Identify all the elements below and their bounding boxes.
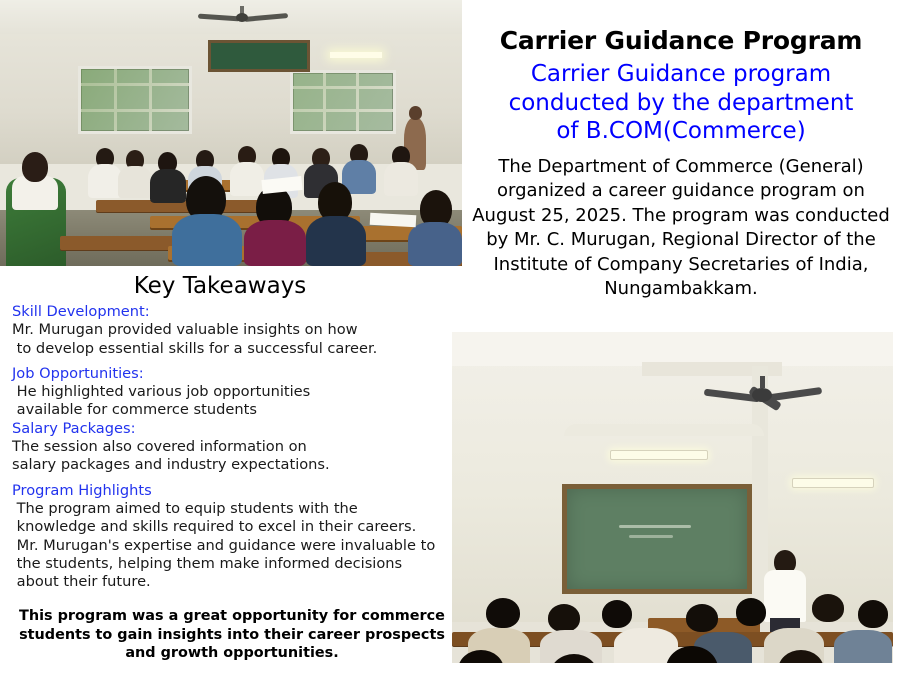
student-body [150,169,186,203]
closing-line-1: This program was a great opportunity for… [6,607,458,626]
takeaway-group-salary-packages: Salary Packages: The session also covere… [12,420,464,475]
takeaway-line: Mr. Murugan provided valuable insights o… [12,321,464,339]
papers [370,213,417,227]
page-title: Carrier Guidance Program [468,26,894,56]
window-left [78,66,192,134]
takeaway-line: about their future. [12,573,464,591]
chalkboard [208,40,310,72]
ceiling-fan-icon [198,6,288,28]
tube-light [610,450,708,460]
student-head [548,604,580,632]
spacer [12,358,464,365]
student-body [230,162,264,196]
intro-line-4: by Mr. C. Murugan, Regional Director of … [456,228,900,253]
student-body [118,166,152,198]
takeaway-group-program-highlights: Program Highlights The program aimed to … [12,482,464,592]
closing-line-2: students to gain insights into their car… [6,626,458,645]
classroom-photo-bottom [452,332,893,663]
standing-person-head [22,152,48,182]
student-head [736,598,766,626]
student-body-foreground [172,214,242,266]
student-head [602,600,632,628]
takeaway-heading: Salary Packages: [12,420,464,438]
closing-line-3: and growth opportunities. [6,644,458,663]
intro-line-2: organized a career guidance program on [456,179,900,204]
right-text-column: Carrier Guidance Program Carrier Guidanc… [462,0,900,302]
takeaway-line: the students, helping them make informed… [12,555,464,573]
takeaway-line: to develop essential skills for a succes… [12,340,464,358]
intro-line-3: August 25, 2025. The program was conduct… [456,204,900,229]
student-head [858,600,888,628]
student-head [686,604,718,632]
closing-statement: This program was a great opportunity for… [6,607,458,663]
chalkboard [562,484,752,594]
takeaway-line: The session also covered information on [12,438,464,456]
intro-line-6: Nungambakkam. [456,277,900,302]
window-right [290,70,396,134]
student-head [812,594,844,622]
takeaway-heading: Skill Development: [12,303,464,321]
subtitle-line-3: of B.COM(Commerce) [462,117,900,146]
instructor-head [409,106,422,120]
student-body-foreground [408,222,462,266]
classroom-photo-top [0,0,462,266]
student-body-foreground [306,216,366,266]
takeaway-group-job-opportunities: Job Opportunities: He highlighted variou… [12,365,464,420]
takeaway-group-skill-development: Skill Development: Mr. Murugan provided … [12,303,464,358]
student-body [384,162,418,196]
takeaway-line: He highlighted various job opportunities [12,383,464,401]
takeaways-list: Skill Development: Mr. Murugan provided … [12,303,464,591]
intro-paragraph: The Department of Commerce (General) org… [456,155,900,302]
tube-light [330,52,382,58]
student-body-foreground [244,220,306,266]
takeaway-line: The program aimed to equip students with… [12,500,464,518]
subtitle: Carrier Guidance program conducted by th… [462,60,900,146]
wall-arch [564,424,764,436]
takeaway-line: available for commerce students [12,401,464,419]
takeaway-heading: Job Opportunities: [12,365,464,383]
speaker-body [764,570,806,622]
student-body [88,164,122,198]
takeaways-title: Key Takeaways [0,272,440,300]
subtitle-line-1: Carrier Guidance program [462,60,900,89]
student-head [486,598,520,628]
student-body [834,630,892,663]
subtitle-line-2: conducted by the department [462,89,900,118]
takeaway-line: Mr. Murugan's expertise and guidance wer… [12,537,464,555]
ceiling-fan-icon [704,376,822,406]
ceiling-beam [452,332,893,366]
takeaway-heading: Program Highlights [12,482,464,500]
takeaway-line: knowledge and skills required to excel i… [12,518,464,536]
intro-line-5: Institute of Company Secretaries of Indi… [456,253,900,278]
spacer [12,475,464,482]
tube-light [792,478,874,488]
takeaway-line: salary packages and industry expectation… [12,456,464,474]
intro-line-1: The Department of Commerce (General) [456,155,900,180]
